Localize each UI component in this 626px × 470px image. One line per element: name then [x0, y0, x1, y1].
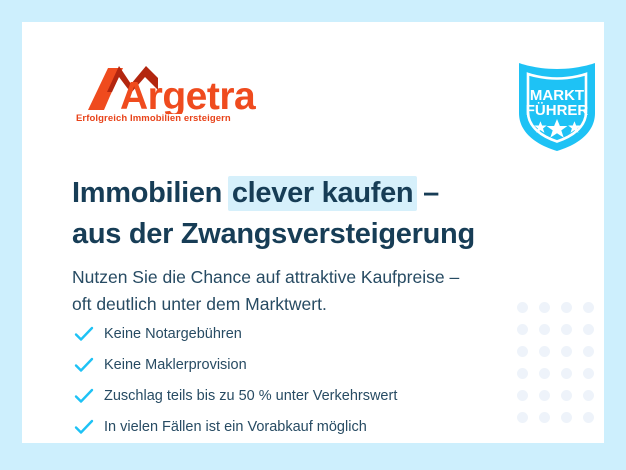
- markt-fuehrer-badge: MARKT FÜHRER: [509, 55, 604, 156]
- headline-line2: aus der Zwangsversteigerung: [72, 215, 572, 253]
- dot: [561, 346, 572, 357]
- dot: [561, 412, 572, 423]
- check-icon: [74, 418, 104, 436]
- list-item: Keine Notargebühren: [74, 318, 544, 349]
- headline-highlight: clever kaufen: [228, 176, 418, 211]
- brand-logo[interactable]: Argetra Erfolgreich Immobilien ersteiger…: [74, 62, 264, 130]
- dot: [583, 346, 594, 357]
- outer-frame: Argetra Erfolgreich Immobilien ersteiger…: [0, 0, 626, 470]
- svg-text:Argetra: Argetra: [120, 75, 256, 114]
- badge-line2: FÜHRER: [526, 102, 589, 119]
- dot: [561, 368, 572, 379]
- content-card: Argetra Erfolgreich Immobilien ersteiger…: [22, 22, 604, 443]
- dot: [583, 302, 594, 313]
- check-icon: [74, 356, 104, 374]
- benefits-checklist: Keine Notargebühren Keine Maklerprovisio…: [74, 318, 544, 442]
- list-item: Zuschlag teils bis zu 50 % unter Verkehr…: [74, 380, 544, 411]
- check-icon: [74, 325, 104, 343]
- shield-badge-icon: MARKT FÜHRER: [509, 55, 604, 156]
- subheading-line2: oft deutlich unter dem Marktwert.: [72, 291, 572, 318]
- dot: [583, 324, 594, 335]
- check-icon: [74, 387, 104, 405]
- list-item: In vielen Fällen ist ein Vorabkauf mögli…: [74, 411, 544, 442]
- subheading-line1: Nutzen Sie die Chance auf attraktive Kau…: [72, 267, 459, 287]
- logo-tagline: Erfolgreich Immobilien ersteigern: [76, 113, 231, 124]
- page-title: Immobilien clever kaufen –aus der Zwangs…: [72, 174, 572, 253]
- argetra-a-roof-icon: Argetra: [74, 62, 264, 114]
- dot: [561, 390, 572, 401]
- dot: [583, 412, 594, 423]
- subheading: Nutzen Sie die Chance auf attraktive Kau…: [72, 264, 572, 318]
- checklist-label: Zuschlag teils bis zu 50 % unter Verkehr…: [104, 388, 397, 404]
- dot: [561, 324, 572, 335]
- checklist-label: In vielen Fällen ist ein Vorabkauf mögli…: [104, 419, 367, 435]
- headline-part2: –: [415, 177, 439, 209]
- checklist-label: Keine Notargebühren: [104, 326, 242, 342]
- checklist-label: Keine Maklerprovision: [104, 357, 247, 373]
- dot: [583, 390, 594, 401]
- list-item: Keine Maklerprovision: [74, 349, 544, 380]
- headline-part1: Immobilien: [72, 177, 230, 209]
- dot: [583, 368, 594, 379]
